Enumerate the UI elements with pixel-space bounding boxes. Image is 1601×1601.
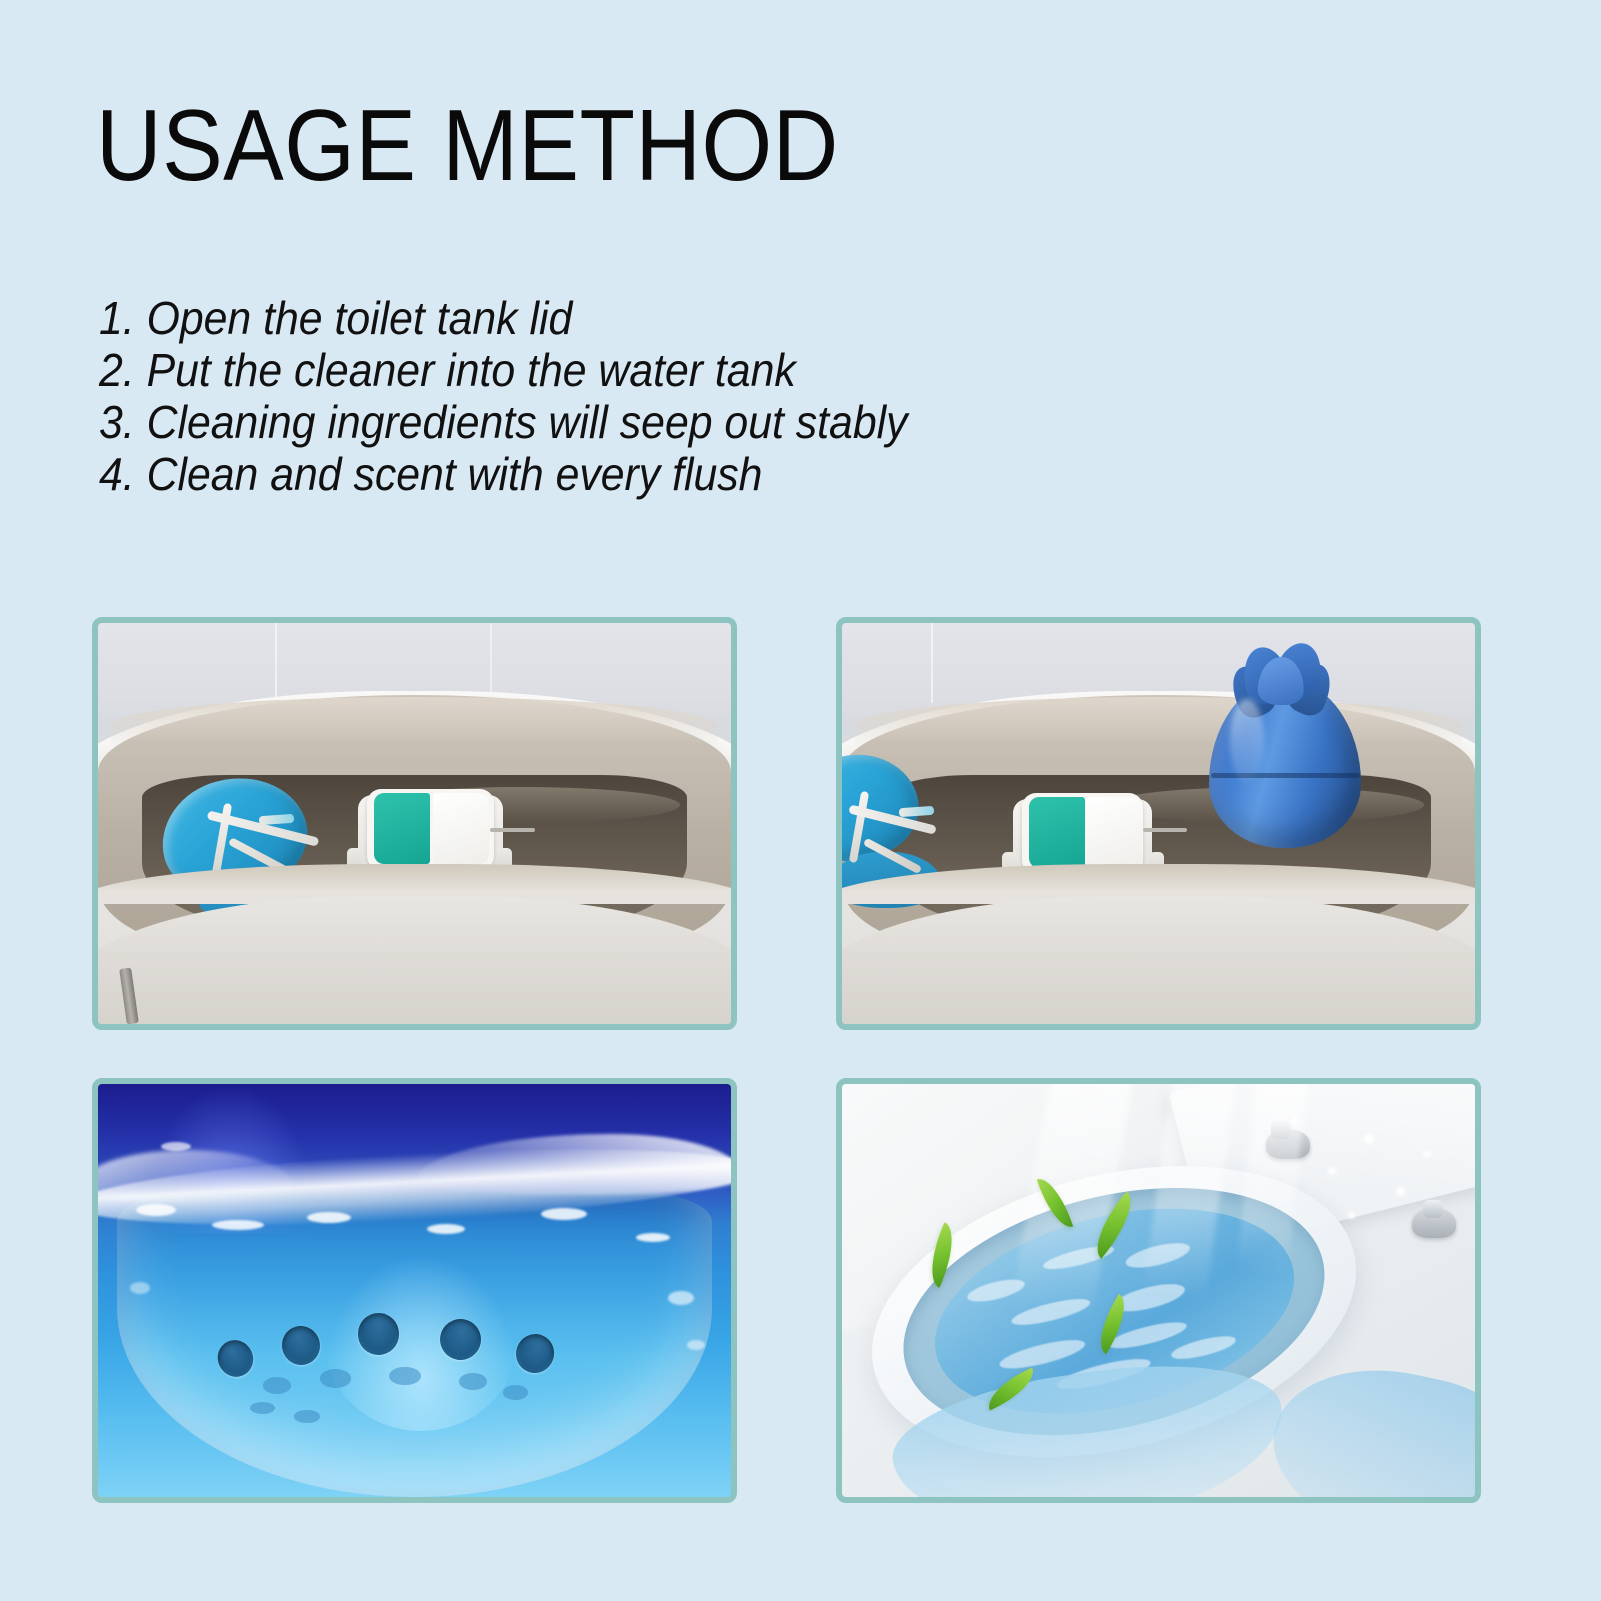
photo-panel-underwater-release	[92, 1078, 737, 1503]
dispense-hole	[358, 1313, 399, 1354]
step-item-4: 4. Clean and scent with every flush	[99, 448, 1215, 500]
water-sparkle	[1364, 1134, 1374, 1144]
water-sparkle	[1348, 1212, 1355, 1219]
cleaner-seam-line	[1211, 773, 1360, 778]
tank-front-panel	[98, 896, 731, 1024]
foam-bubble	[541, 1208, 587, 1220]
flush-button-white	[1086, 797, 1142, 867]
dispense-hole-small	[320, 1369, 352, 1388]
photo-underwater-release	[98, 1084, 731, 1497]
photo-panel-insert-cleaner	[836, 617, 1481, 1030]
step-item-3: 3. Cleaning ingredients will seep out st…	[99, 396, 1215, 448]
foam-bubble	[307, 1212, 351, 1223]
foam-bubble	[136, 1204, 176, 1216]
tank-front-panel	[842, 896, 1475, 1024]
flush-button-teal	[374, 793, 430, 863]
usage-photo-grid	[92, 617, 1481, 1503]
cleaner-highlight	[1230, 699, 1263, 783]
photo-panel-open-tank	[92, 617, 737, 1030]
tank-rim-highlight	[111, 697, 719, 745]
wall-tile-seam	[931, 623, 933, 703]
water-sparkle	[1328, 1167, 1336, 1175]
flush-button-teal	[1029, 797, 1085, 867]
flush-valve-rod	[1143, 828, 1187, 832]
cleaner-base-highlight	[326, 1257, 516, 1430]
step-item-2: 2. Put the cleaner into the water tank	[99, 344, 1215, 396]
dispense-hole-small	[459, 1373, 487, 1390]
water-foam	[1169, 1332, 1237, 1363]
tank-rim-highlight	[855, 697, 1463, 745]
photo-open-tank	[98, 623, 731, 1024]
water-foam	[997, 1335, 1087, 1375]
photo-fresh-bowl	[842, 1084, 1475, 1497]
rose-toilet-cleaner	[1209, 647, 1361, 848]
usage-steps-list: 1. Open the toilet tank lid 2. Put the c…	[99, 292, 1299, 500]
foam-bubble	[636, 1233, 670, 1242]
dispense-hole-small	[263, 1377, 291, 1394]
photo-insert-cleaner	[842, 623, 1475, 1024]
step-item-1: 1. Open the toilet tank lid	[99, 292, 1215, 344]
water-sparkle	[1291, 1117, 1298, 1124]
dispense-hole-small	[294, 1410, 319, 1422]
foam-bubble	[130, 1282, 150, 1294]
water-sparkle	[1423, 1150, 1431, 1158]
seat-hinge-bolt	[1423, 1200, 1443, 1218]
foam-bubble	[668, 1291, 694, 1305]
page-title: USAGE METHOD	[96, 96, 839, 197]
flush-valve-rod	[490, 828, 534, 832]
photo-panel-fresh-bowl	[836, 1078, 1481, 1503]
foam-bubble	[687, 1340, 705, 1350]
foam-bubble	[161, 1142, 191, 1151]
flush-button-white	[433, 793, 489, 863]
